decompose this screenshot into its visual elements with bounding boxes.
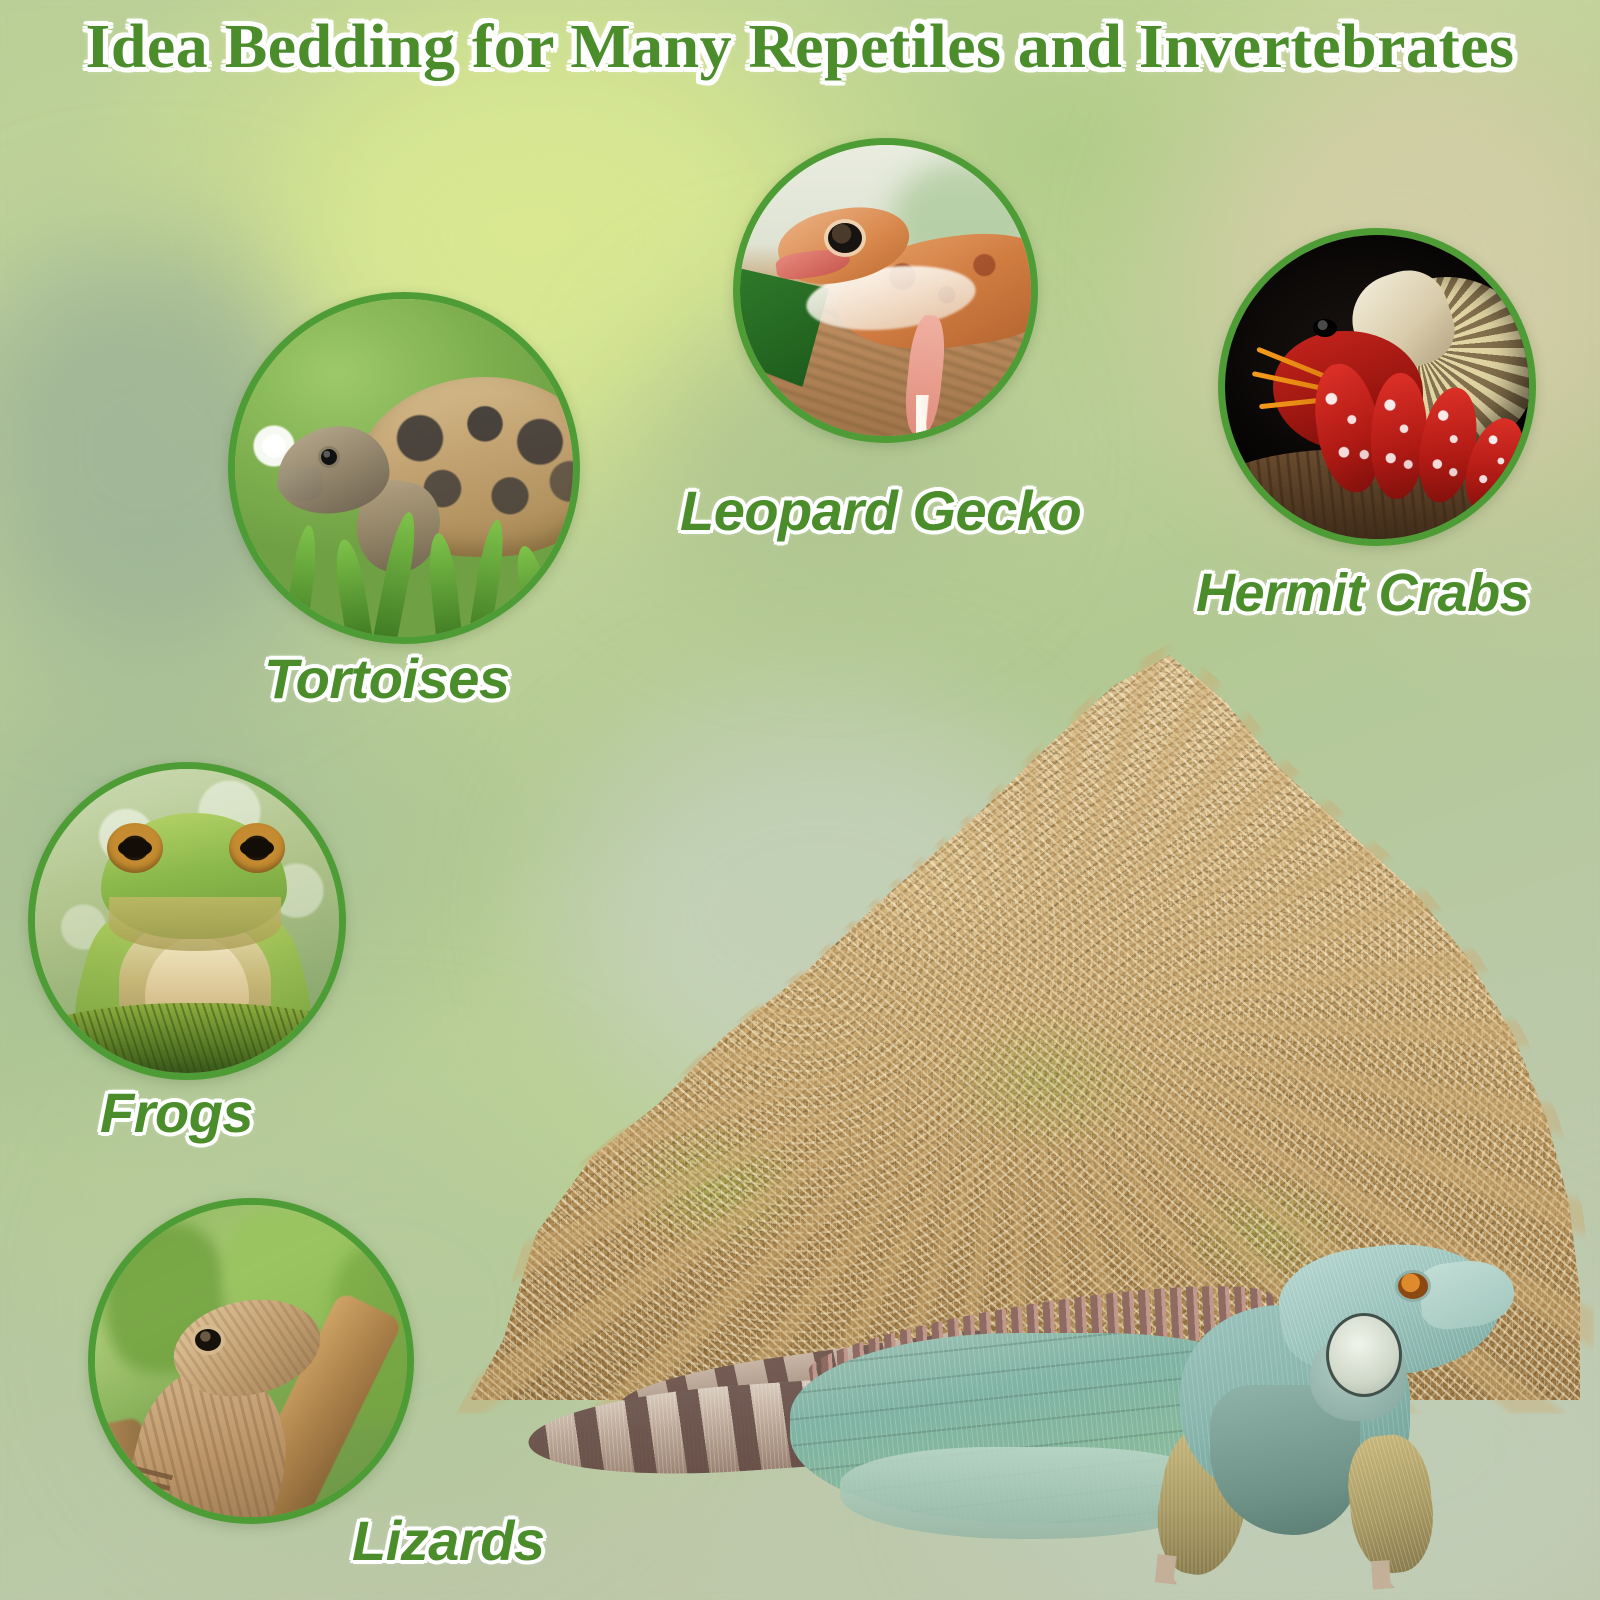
iguana-rear-leg [1343,1431,1439,1577]
frog-mouth [109,897,281,951]
pod-lizard-photo [88,1198,414,1524]
pod-gecko-photo [733,138,1038,443]
frog-left-pupil [118,839,152,857]
tortoise-eye [321,449,337,465]
iguana-tympanum [1326,1313,1402,1397]
gecko-toes [916,395,1038,443]
poster-title: Idea Bedding for Many Repetiles and Inve… [0,12,1600,83]
pod-frog-photo [28,762,346,1080]
iguana-front-foot [1155,1554,1287,1595]
lizard-eye [195,1329,221,1351]
label-hermit-crabs: Hermit Crabs [1196,562,1529,624]
pod-tortoise-photo [228,292,580,644]
label-frogs: Frogs [100,1080,253,1145]
pod-hermit-crab-photo [1218,228,1536,546]
green-iguana [520,1185,1530,1600]
crab-eye [1313,319,1337,337]
frog-moss-perch [28,1003,346,1077]
product-infographic-poster: Idea Bedding for Many Repetiles and Inve… [0,0,1600,1600]
gecko-eye [828,223,862,253]
frog-right-pupil [240,839,274,857]
label-lizards: Lizards [352,1508,545,1573]
tortoise-snout [277,467,323,501]
iguana-snout [1416,1256,1517,1333]
label-leopard-gecko: Leopard Gecko [680,478,1081,543]
iguana-eye [1398,1273,1428,1299]
